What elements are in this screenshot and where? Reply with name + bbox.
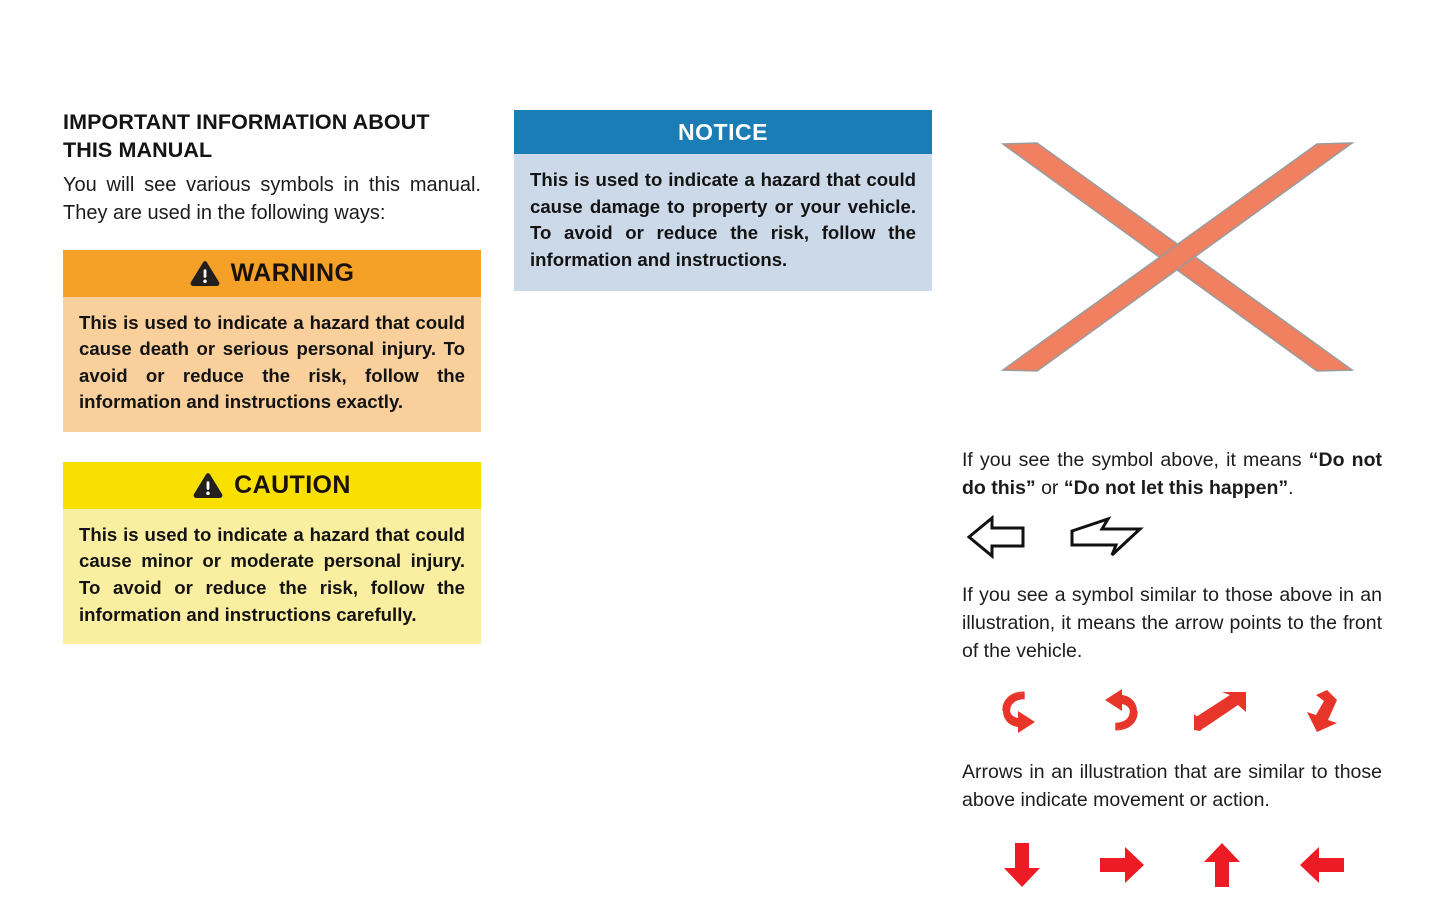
warning-body-text: This is used to indicate a hazard that c… <box>63 297 481 432</box>
notice-header: NOTICE <box>514 110 932 154</box>
curved-arrow-row <box>962 687 1382 735</box>
warning-label: WARNING <box>231 259 355 288</box>
solid-arrow-right-icon <box>1072 842 1172 888</box>
do-not-paragraph-part3: . <box>1288 477 1293 499</box>
solid-arrow-row <box>962 839 1382 891</box>
notice-body-text: This is used to indicate a hazard that c… <box>514 154 932 291</box>
do-not-paragraph-part1: If you see the symbol above, it means <box>962 449 1309 471</box>
caution-body-text: This is used to indicate a hazard that c… <box>63 509 481 644</box>
do-not-paragraph: If you see the symbol above, it means “D… <box>962 447 1382 502</box>
alert-box-notice: NOTICE This is used to indicate a hazard… <box>514 110 932 291</box>
right-column: If you see the symbol above, it means “D… <box>962 112 1382 891</box>
solid-arrow-up-icon <box>1172 840 1272 890</box>
manual-page: IMPORTANT INFORMATION ABOUT THIS MANUAL … <box>0 0 1445 903</box>
outline-arrow-bent-right-icon <box>1068 515 1144 564</box>
notice-label: NOTICE <box>678 119 768 146</box>
solid-arrow-down-icon <box>972 840 1072 890</box>
caution-header: CAUTION <box>63 462 481 509</box>
diagonal-arrow-down-left-icon <box>1270 686 1370 736</box>
prohibition-x-symbol <box>962 112 1382 399</box>
double-headed-diagonal-arrow-icon <box>1170 688 1270 734</box>
page-title: IMPORTANT INFORMATION ABOUT THIS MANUAL <box>63 108 481 165</box>
alert-box-warning: WARNING This is used to indicate a hazar… <box>63 250 481 432</box>
do-not-paragraph-part2: or <box>1036 477 1064 499</box>
intro-paragraph: You will see various symbols in this man… <box>63 171 481 228</box>
outline-arrow-row <box>962 516 1382 562</box>
warning-header: WARNING <box>63 250 481 297</box>
front-of-vehicle-paragraph: If you see a symbol similar to those abo… <box>962 582 1382 665</box>
do-not-paragraph-bold2: “Do not let this happen” <box>1064 477 1288 499</box>
warning-triangle-icon <box>190 260 220 287</box>
curved-arrow-down-right-icon <box>970 688 1070 734</box>
caution-label: CAUTION <box>234 471 351 500</box>
curved-arrow-up-left-icon <box>1070 688 1170 734</box>
left-column: IMPORTANT INFORMATION ABOUT THIS MANUAL … <box>63 108 481 644</box>
alert-box-caution: CAUTION This is used to indicate a hazar… <box>63 462 481 644</box>
warning-triangle-icon <box>193 472 223 499</box>
movement-action-paragraph: Arrows in an illustration that are simil… <box>962 759 1382 814</box>
solid-arrow-left-icon <box>1272 842 1372 888</box>
middle-column: NOTICE This is used to indicate a hazard… <box>514 110 932 291</box>
outline-arrow-left-icon <box>966 515 1026 564</box>
